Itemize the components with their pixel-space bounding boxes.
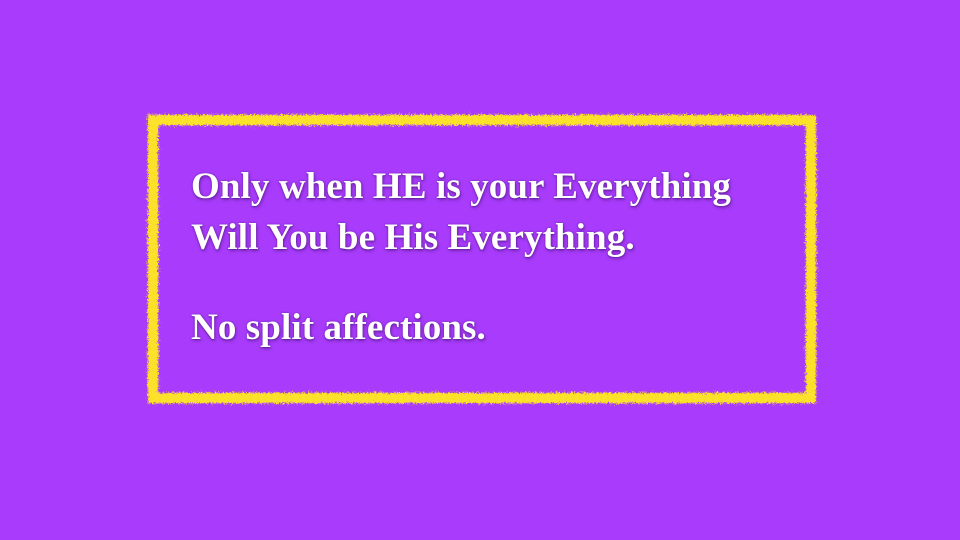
quote-line-2: Will You be His Everything.	[191, 212, 791, 263]
quote-line-4: No split affections.	[191, 302, 791, 353]
slide-canvas: Only when HE is your Everything Will You…	[0, 0, 960, 540]
quote-line-1: Only when HE is your Everything	[191, 161, 791, 212]
quote-text-block: Only when HE is your Everything Will You…	[191, 161, 791, 353]
quote-line-spacer	[191, 263, 791, 302]
